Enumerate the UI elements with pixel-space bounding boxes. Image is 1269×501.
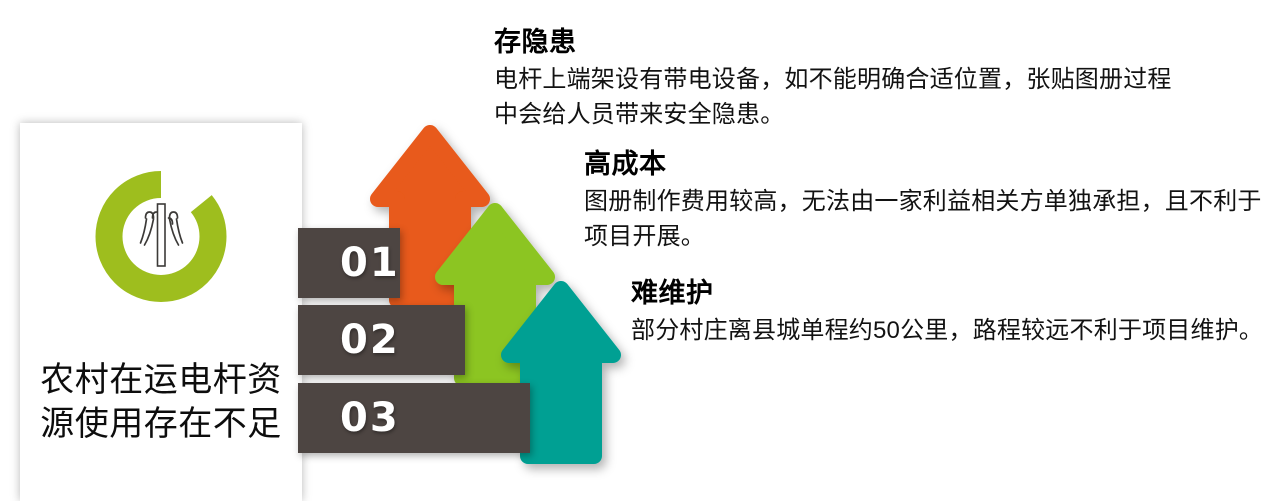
text-block-1: 存隐患 电杆上端架设有带电设备，如不能明确合适位置，张贴图册过程中会给人员带来安…: [494, 26, 1194, 132]
step-bar-02[interactable]: 02: [298, 305, 465, 375]
text-block-2: 高成本 图册制作费用较高，无法由一家利益相关方单独承担，且不利于项目开展。: [584, 148, 1269, 254]
pole-glyph: [141, 204, 183, 266]
text-block-3-body: 部分村庄离县城单程约50公里，路程较远不利于项目维护。: [631, 313, 1269, 348]
utility-pole-donut-icon: [96, 171, 227, 302]
text-block-2-title: 高成本: [584, 148, 1269, 180]
step-bar-03[interactable]: 03: [298, 383, 530, 453]
step-bar-01[interactable]: 01: [298, 228, 400, 298]
infographic-canvas: 农村在运电杆资 源使用存在不足 01 02 03 存隐患 电杆上端架设有带电设备…: [0, 0, 1269, 501]
text-block-3: 难维护 部分村庄离县城单程约50公里，路程较远不利于项目维护。: [631, 277, 1269, 348]
step-number-01: 01: [340, 240, 400, 286]
text-block-1-title: 存隐患: [494, 26, 1194, 58]
left-summary-panel: 农村在运电杆资 源使用存在不足: [20, 123, 302, 501]
text-block-1-body: 电杆上端架设有带电设备，如不能明确合适位置，张贴图册过程中会给人员带来安全隐患。: [494, 62, 1194, 132]
step-number-02: 02: [340, 317, 400, 363]
step-number-03: 03: [340, 395, 400, 441]
text-block-3-title: 难维护: [631, 277, 1269, 309]
text-block-2-body: 图册制作费用较高，无法由一家利益相关方单独承担，且不利于项目开展。: [584, 184, 1269, 254]
panel-caption: 农村在运电杆资 源使用存在不足: [20, 358, 302, 446]
